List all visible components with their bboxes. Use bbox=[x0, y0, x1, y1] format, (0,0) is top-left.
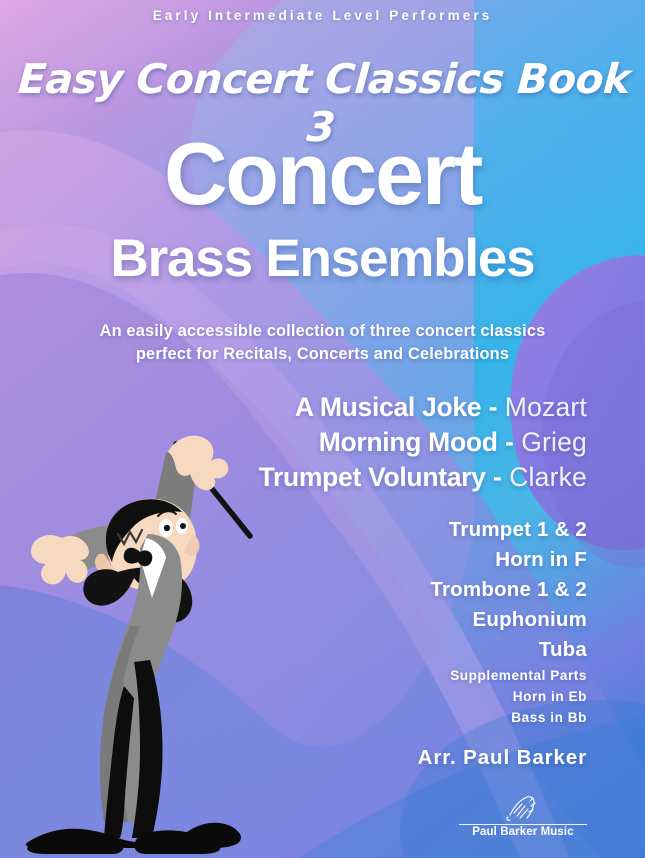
publisher-name: Paul Barker Music bbox=[459, 827, 587, 839]
piece-dash: - bbox=[493, 462, 502, 492]
supplemental-item: Bass in Bb bbox=[0, 707, 587, 728]
piece-title: A Musical Joke bbox=[295, 392, 481, 422]
arranger-credit: Arr. Paul Barker bbox=[0, 746, 587, 770]
trumpet-logo-icon bbox=[500, 793, 546, 823]
logo-divider bbox=[459, 824, 587, 825]
instrument-item: Tuba bbox=[0, 635, 587, 665]
supplemental-item: Horn in Eb bbox=[0, 686, 587, 707]
piece-composer: Mozart bbox=[505, 392, 587, 422]
instrument-item: Euphonium bbox=[0, 605, 587, 635]
piece-item: Trumpet Voluntary - Clarke bbox=[0, 460, 587, 495]
supplemental-heading: Supplemental Parts bbox=[0, 665, 587, 686]
piece-dash: - bbox=[489, 392, 498, 422]
piece-title: Trumpet Voluntary bbox=[259, 462, 486, 492]
piece-item: A Musical Joke - Mozart bbox=[0, 390, 587, 425]
supplemental-parts-list: Supplemental Parts Horn in Eb Bass in Bb bbox=[0, 665, 587, 728]
piece-composer: Clarke bbox=[509, 462, 587, 492]
instrument-item: Trumpet 1 & 2 bbox=[0, 515, 587, 545]
instrument-item: Trombone 1 & 2 bbox=[0, 575, 587, 605]
page-subtitle: Brass Ensembles bbox=[0, 232, 645, 285]
piece-dash: - bbox=[505, 427, 514, 457]
piece-title: Morning Mood bbox=[319, 427, 498, 457]
blurb-line-1: An easily accessible collection of three… bbox=[30, 320, 615, 343]
level-eyebrow: Early Intermediate Level Performers bbox=[0, 8, 645, 23]
description-blurb: An easily accessible collection of three… bbox=[30, 320, 615, 367]
piece-list: A Musical Joke - Mozart Morning Mood - G… bbox=[0, 390, 587, 496]
publisher-logo: Paul Barker Music bbox=[459, 793, 587, 839]
piece-item: Morning Mood - Grieg bbox=[0, 425, 587, 460]
piece-composer: Grieg bbox=[521, 427, 587, 457]
page-title: Concert bbox=[0, 130, 645, 218]
blurb-line-2: perfect for Recitals, Concerts and Celeb… bbox=[30, 343, 615, 366]
instrument-item: Horn in F bbox=[0, 545, 587, 575]
book-cover: Early Intermediate Level Performers Easy… bbox=[0, 0, 645, 858]
instrumentation-list: Trumpet 1 & 2 Horn in F Trombone 1 & 2 E… bbox=[0, 515, 587, 665]
